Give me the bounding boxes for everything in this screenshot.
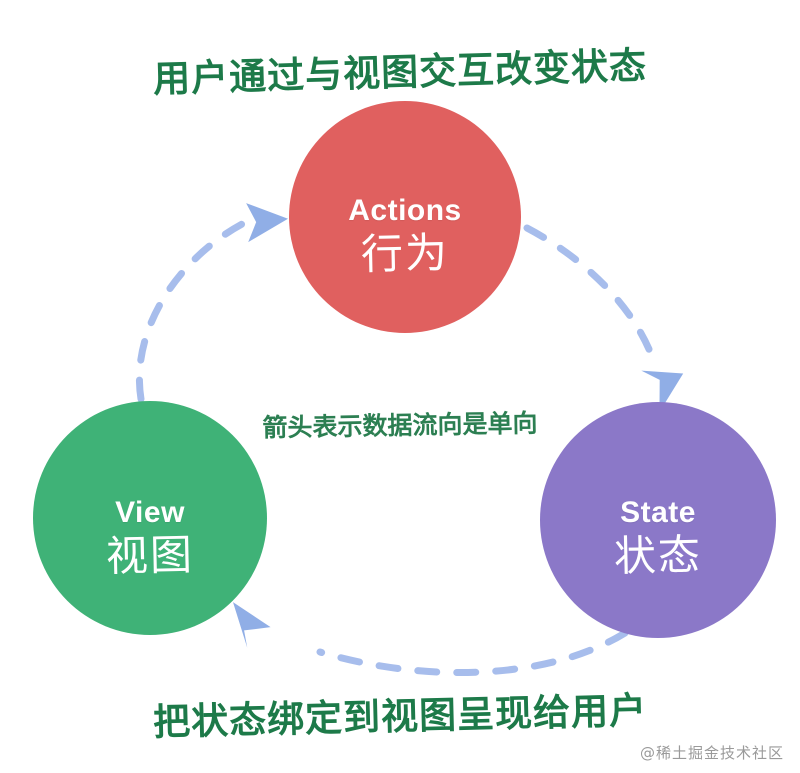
arrow-state-to-view-head [228,602,272,650]
watermark: @稀土掘金技术社区 [640,742,784,763]
diagram-svg [0,0,800,773]
arrow-actions-to-state [527,228,683,413]
diagram-canvas: Actions 行为 View 视图 State 状态 用户通过与视图交互改变状… [0,0,800,773]
arrow-view-to-actions [139,199,290,399]
arrow-state-to-view-path [320,633,625,673]
arrow-state-to-view [228,602,625,672]
arrow-actions-to-state-path [527,228,654,362]
node-circle-actions[interactable] [289,101,521,333]
arrow-view-to-actions-path [139,223,244,399]
arrow-view-to-actions-head [244,199,290,242]
